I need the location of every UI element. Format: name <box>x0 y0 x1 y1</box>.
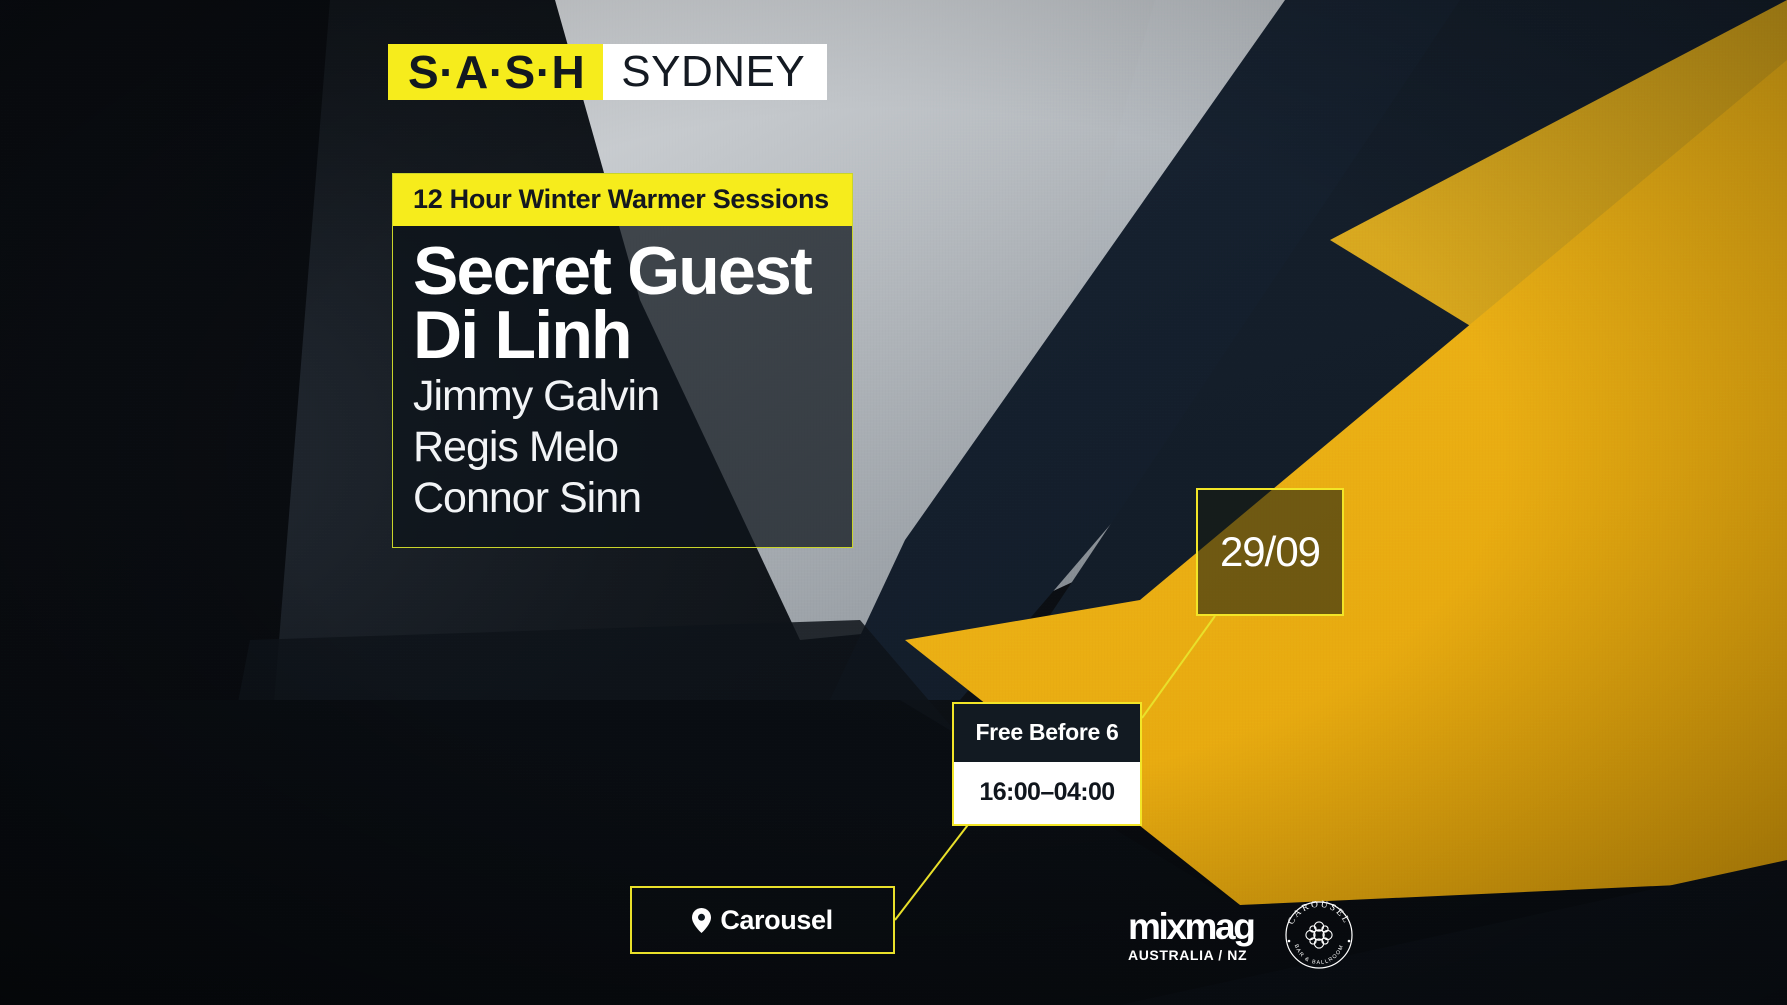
mixmag-wordmark: mixmag <box>1128 908 1253 945</box>
entry-price-label: Free Before 6 <box>954 704 1140 762</box>
support-artist-1: Jimmy Galvin <box>413 374 832 419</box>
event-flyer: S·A·S·H SYDNEY 12 Hour Winter Warmer Ses… <box>0 0 1787 1005</box>
support-artist-3: Connor Sinn <box>413 476 832 521</box>
event-date-tile: 29/09 <box>1196 488 1344 616</box>
sash-wordmark: S·A·S·H <box>388 44 603 100</box>
event-info-stack: Free Before 6 16:00–04:00 <box>952 702 1142 826</box>
lineup-artist-list: Secret Guest Di Linh Jimmy Galvin Regis … <box>393 226 852 547</box>
venue-name-label: Carousel <box>720 905 832 936</box>
mixmag-region-label: AUSTRALIA / NZ <box>1128 948 1247 962</box>
lineup-panel: 12 Hour Winter Warmer Sessions Secret Gu… <box>392 173 853 548</box>
sponsor-logos: mixmag AUSTRALIA / NZ CAROUSEL BAR & BAL… <box>1128 895 1359 975</box>
connector-lines <box>0 0 1787 1005</box>
event-date-text: 29/09 <box>1220 528 1320 576</box>
event-series-banner: 12 Hour Winter Warmer Sessions <box>393 174 852 226</box>
event-hours-label: 16:00–04:00 <box>954 762 1140 824</box>
carousel-emblem-icon: CAROUSEL BAR & BALLROOM <box>1279 895 1359 975</box>
headliner-name-2: Di Linh <box>413 304 832 368</box>
svg-text:CAROUSEL: CAROUSEL <box>1287 900 1352 927</box>
mixmag-logo: mixmag AUSTRALIA / NZ <box>1128 908 1253 962</box>
sash-sydney-logo: S·A·S·H SYDNEY <box>388 44 827 100</box>
sydney-wordmark: SYDNEY <box>603 44 827 100</box>
headliner-name-1: Secret Guest <box>413 240 832 304</box>
carousel-bar-ballroom-logo: CAROUSEL BAR & BALLROOM <box>1279 895 1359 975</box>
location-pin-icon <box>692 908 711 933</box>
support-artist-2: Regis Melo <box>413 425 832 470</box>
venue-pill: Carousel <box>630 886 895 954</box>
